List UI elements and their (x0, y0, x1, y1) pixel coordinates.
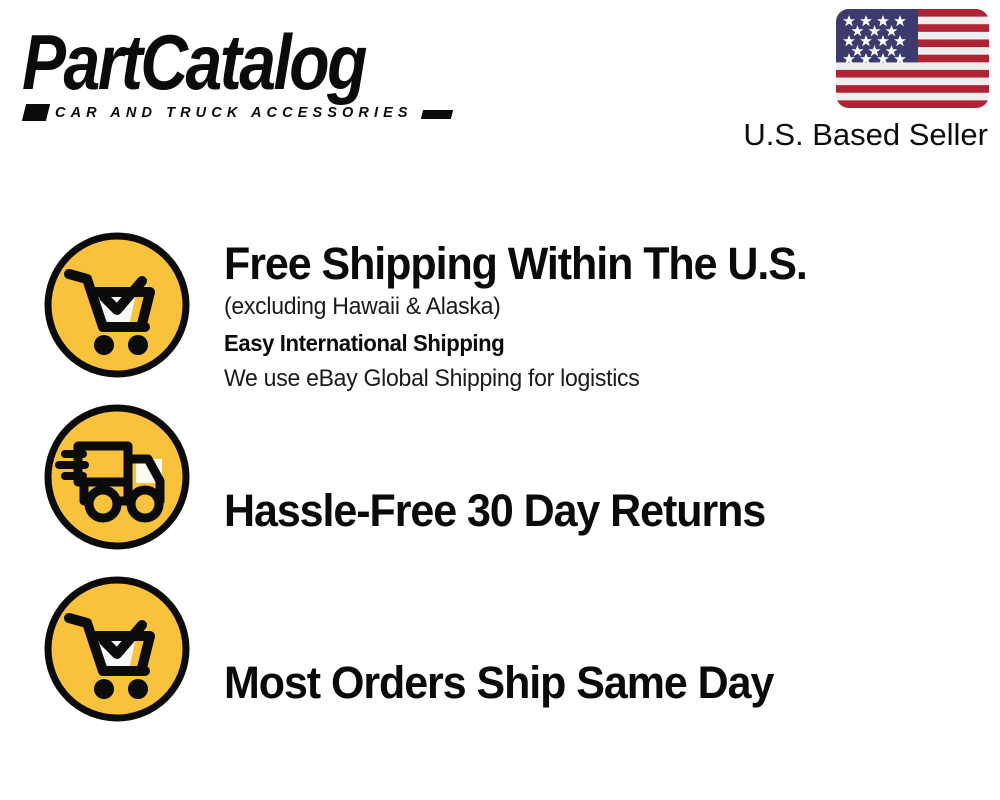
brand-tagline-row: CAR AND TRUCK ACCESSORIES (24, 104, 490, 121)
us-flag-icon (836, 9, 989, 108)
feature-text-block: Most Orders Ship Same Day (193, 608, 1000, 709)
feature-title: Most Orders Ship Same Day (224, 656, 965, 709)
feature-text-block: Free Shipping Within The U.S. (excluding… (193, 228, 1000, 396)
tagline-rule-left-icon (22, 104, 50, 121)
shopping-cart-check-icon (41, 229, 193, 381)
feature-subnote: We use eBay Global Shipping for logistic… (224, 362, 969, 396)
brand-tagline: CAR AND TRUCK ACCESSORIES (55, 105, 413, 121)
feature-text-block: Hassle-Free 30 Day Returns (193, 436, 1000, 537)
shipping-info-banner: PartCatalog CAR AND TRUCK ACCESSORIES (0, 0, 1000, 800)
feature-note: (excluding Hawaii & Alaska) (224, 290, 969, 324)
feature-row: Hassle-Free 30 Day Returns (0, 400, 1000, 572)
shopping-cart-check-icon (41, 573, 193, 725)
feature-row: Most Orders Ship Same Day (0, 572, 1000, 744)
feature-subheading: Easy International Shipping (224, 324, 969, 362)
brand-logo: PartCatalog CAR AND TRUCK ACCESSORIES (22, 18, 492, 113)
delivery-truck-icon (41, 401, 193, 553)
tagline-rule-right-icon (421, 110, 453, 119)
feature-title: Free Shipping Within The U.S. (224, 237, 965, 290)
feature-row: Free Shipping Within The U.S. (excluding… (0, 228, 1000, 400)
feature-list: Free Shipping Within The U.S. (excluding… (0, 228, 1000, 744)
brand-wordmark: PartCatalog (22, 18, 492, 105)
seller-location-label: U.S. Based Seller (743, 117, 988, 153)
feature-title: Hassle-Free 30 Day Returns (224, 484, 965, 537)
